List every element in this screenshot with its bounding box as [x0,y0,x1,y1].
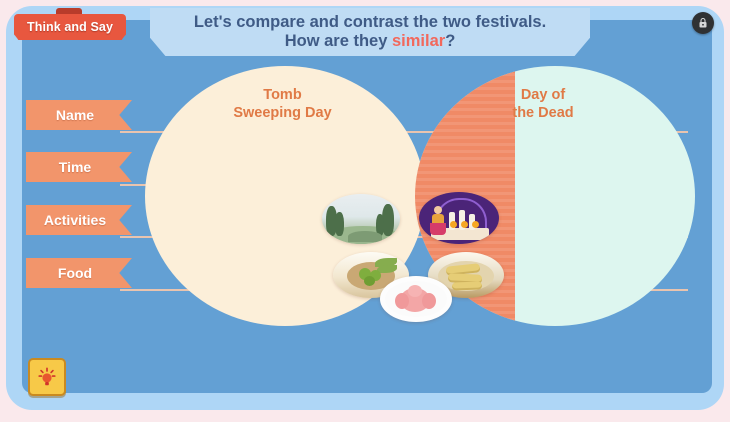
tab-label: Think and Say [27,20,113,34]
question-line-2: How are they similar? [285,32,456,51]
pan-de-muerto-bread-image[interactable] [380,276,452,322]
category-label: Name [56,107,102,123]
category-label: Food [58,265,100,281]
category-food[interactable]: Food [26,258,132,288]
category-time[interactable]: Time [26,152,132,182]
question-line-1: Let's compare and contrast the two festi… [194,13,546,32]
day-of-the-dead-altar-image[interactable] [419,192,499,244]
venn-left-title-line1: Tomb [200,86,365,104]
venn-right-title: Day of the Dead [478,86,608,122]
question-line-2-prefix: How are they [285,32,392,50]
category-name[interactable]: Name [26,100,132,130]
category-label: Activities [44,212,114,228]
lightbulb-icon[interactable] [28,358,66,396]
category-label: Time [59,159,99,175]
venn-right-title-line1: Day of [478,86,608,104]
question-banner: Let's compare and contrast the two festi… [150,8,590,56]
venn-left-title: Tomb Sweeping Day [200,86,365,122]
slide-root: Tomb Sweeping Day Day of the Dead [0,0,730,422]
venn-right-title-line2: the Dead [478,104,608,122]
think-and-say-tab[interactable]: Think and Say [14,8,126,42]
venn-left-title-line2: Sweeping Day [200,104,365,122]
lock-icon[interactable] [692,12,714,34]
tab-banner[interactable]: Think and Say [14,14,126,40]
question-line-2-suffix: ? [445,32,455,50]
landscape-painting-image[interactable] [322,194,400,244]
question-highlight-word: similar [392,32,445,50]
category-activities[interactable]: Activities [26,205,132,235]
